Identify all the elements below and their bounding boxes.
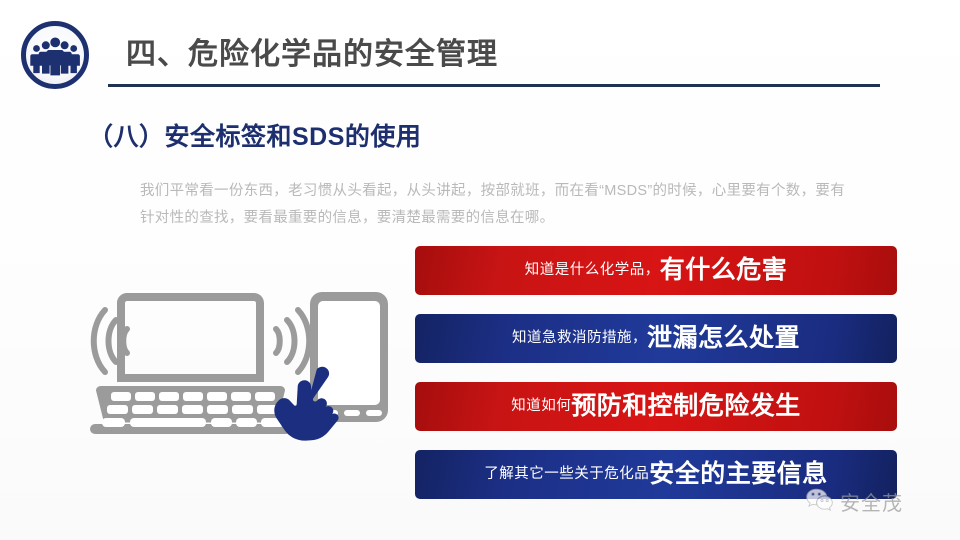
watermark-label: 安全茂 [840, 487, 903, 516]
message-bar-lead: 了解其它一些关于危化品 [484, 467, 649, 482]
intro-paragraph: 我们平常看一份东西，老习惯从头看起，从头讲起，按部就班，而在看“MSDS”的时候… [140, 178, 845, 232]
message-bar[interactable]: 知道是什么化学品， 有什么危害 [415, 246, 897, 295]
header-divider [108, 84, 880, 87]
message-bar-emphasis: 预防和控制危险发生 [571, 394, 801, 419]
device-illustration [70, 272, 400, 468]
slide-canvas: 四、危险化学品的安全管理 （八）安全标签和SDS的使用 我们平常看一份东西，老习… [0, 0, 960, 540]
message-bar-lead: 知道急救消防措施， [512, 331, 647, 346]
group-of-people-icon [19, 19, 91, 91]
message-bar-emphasis: 有什么危害 [660, 258, 788, 283]
wifi-waves-right-icon [276, 310, 309, 372]
slide-header: 四、危险化学品的安全管理 [0, 0, 960, 110]
section-heading: （八）安全标签和SDS的使用 [88, 117, 421, 153]
watermark: 安全茂 [806, 487, 903, 516]
message-bar-lead: 知道是什么化学品， [525, 263, 660, 278]
message-bar[interactable]: 知道急救消防措施， 泄漏怎么处置 [415, 314, 897, 363]
message-bar-list: 知道是什么化学品， 有什么危害 知道急救消防措施， 泄漏怎么处置 知道如何 预防… [415, 246, 897, 514]
wechat-logo-icon [806, 488, 833, 516]
message-bar[interactable]: 知道如何 预防和控制危险发生 [415, 382, 897, 431]
message-bar-lead: 知道如何 [511, 399, 571, 414]
message-bar-emphasis: 泄漏怎么处置 [647, 326, 800, 351]
page-title: 四、危险化学品的安全管理 [126, 35, 498, 75]
message-bar-emphasis: 安全的主要信息 [649, 462, 828, 487]
